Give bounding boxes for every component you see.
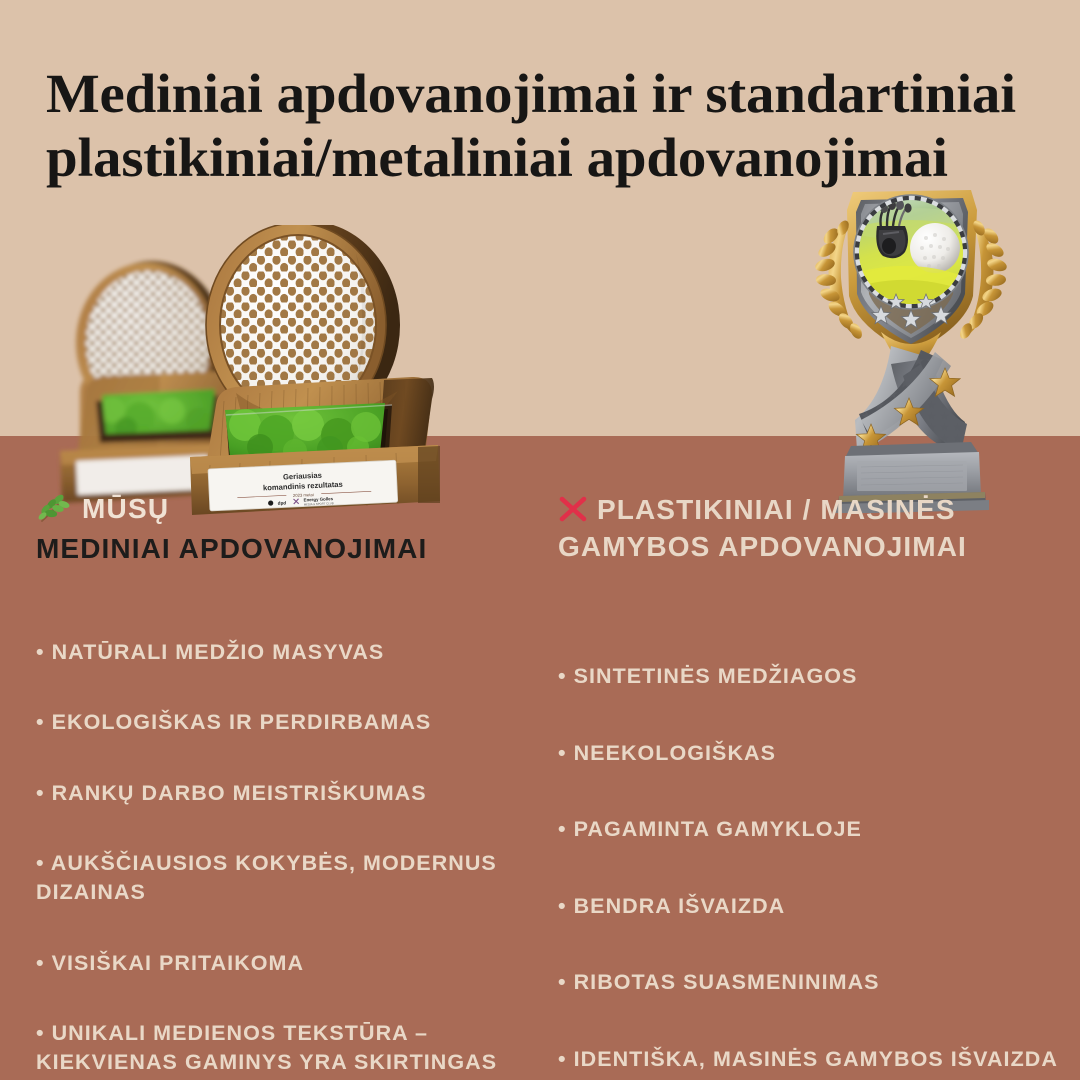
list-item: • SINTETINĖS MEDŽIAGOS [558, 662, 1066, 691]
left-column-heading: MEDINIAI APDOVANOJIMAI [36, 532, 536, 566]
list-item: • VISIŠKAI PRITAIKOMA [36, 949, 536, 978]
list-item: • UNIKALI MEDIENOS TEKSTŪRA – KIEKVIENAS… [36, 1019, 536, 1076]
list-item: • RANKŲ DARBO MEISTRIŠKUMAS [36, 779, 536, 808]
leaf-sprig-icon [36, 492, 70, 526]
svg-text:Geriausias: Geriausias [283, 471, 322, 482]
list-item: • EKOLOGIŠKAS IR PERDIRBAMAS [36, 708, 536, 737]
plastic-drawbacks-list: • SINTETINĖS MEDŽIAGOS • NEEKOLOGIŠKAS •… [558, 662, 1066, 1074]
list-item: • RIBOTAS SUASMENINIMAS [558, 968, 1066, 997]
right-column-heading: PLASTIKINIAI / MASINĖS GAMYBOS APDOVANOJ… [558, 492, 1066, 566]
right-heading-line-1: PLASTIKINIAI / MASINĖS [597, 494, 956, 525]
left-column-header: MŪSŲ [36, 492, 536, 526]
title-line-1: Mediniai apdovanojimai ir standartiniai [46, 63, 1016, 124]
page-title: Mediniai apdovanojimai ir standartiniai … [46, 62, 1080, 190]
left-column-wooden: MŪSŲ MEDINIAI APDOVANOJIMAI • NATŪRALI M… [36, 492, 536, 1076]
right-column-plastic: PLASTIKINIAI / MASINĖS GAMYBOS APDOVANOJ… [558, 492, 1066, 1073]
list-item: • NEEKOLOGIŠKAS [558, 739, 1066, 768]
list-item: • IDENTIŠKA, MASINĖS GAMYBOS IŠVAIZDA [558, 1045, 1066, 1074]
list-item: • BENDRA IŠVAIZDA [558, 892, 1066, 921]
comparison-poster: Geriausias komandinis rezultatas 2023 me… [0, 0, 1080, 1080]
list-item: • AUKŠČIAUSIOS KOKYBĖS, MODERNUS DIZAINA… [36, 849, 536, 906]
wooden-awards-photo: Geriausias komandinis rezultatas 2023 me… [40, 225, 540, 515]
list-item: • NATŪRALI MEDŽIO MASYVAS [36, 638, 536, 667]
list-item: • PAGAMINTA GAMYKLOJE [558, 815, 1066, 844]
red-x-icon [558, 496, 588, 522]
wooden-benefits-list: • NATŪRALI MEDŽIO MASYVAS • EKOLOGIŠKAS … [36, 638, 536, 1077]
left-column-eyebrow: MŪSŲ [82, 493, 169, 525]
title-line-2: plastikiniai/metaliniai apdovanojimai [46, 126, 1080, 190]
plastic-award-photo [795, 168, 1025, 513]
right-heading-line-2: GAMYBOS APDOVANOJIMAI [558, 531, 967, 562]
